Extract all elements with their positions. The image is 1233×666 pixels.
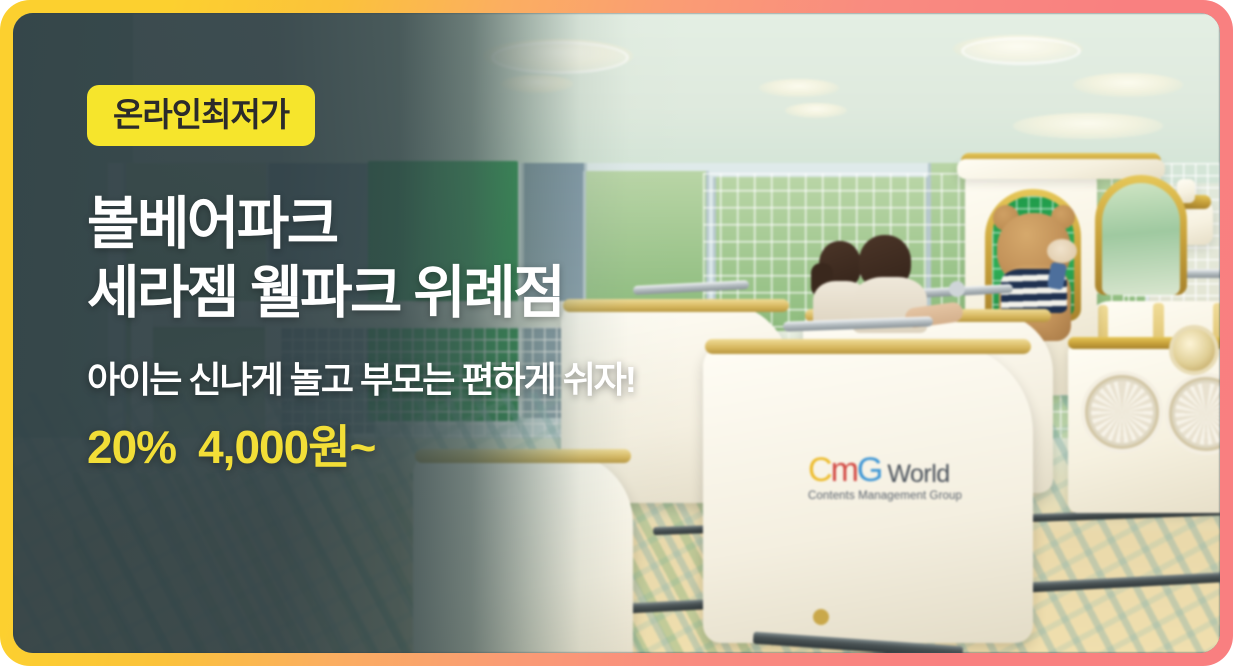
promo-banner[interactable]: C m G World Contents Management Group 온라… (0, 0, 1233, 666)
discount-percent: 20% (87, 421, 176, 473)
banner-content: 온라인최저가 볼베어파크 세라젬 웰파크 위례점 아이는 신나게 놀고 부모는 … (13, 13, 1220, 653)
price-amount: 4,000원~ (198, 421, 375, 473)
title-line-2: 세라젬 웰파크 위례점 (87, 259, 1220, 328)
banner-subtitle: 아이는 신나게 놀고 부모는 편하게 쉬자! (87, 362, 1220, 398)
price-line: 20%4,000원~ (87, 424, 1220, 470)
banner-title: 볼베어파크 세라젬 웰파크 위례점 (87, 190, 1220, 328)
lowest-price-badge: 온라인최저가 (87, 85, 315, 146)
title-line-1: 볼베어파크 (87, 190, 1220, 259)
banner-inner: C m G World Contents Management Group 온라… (13, 13, 1220, 653)
